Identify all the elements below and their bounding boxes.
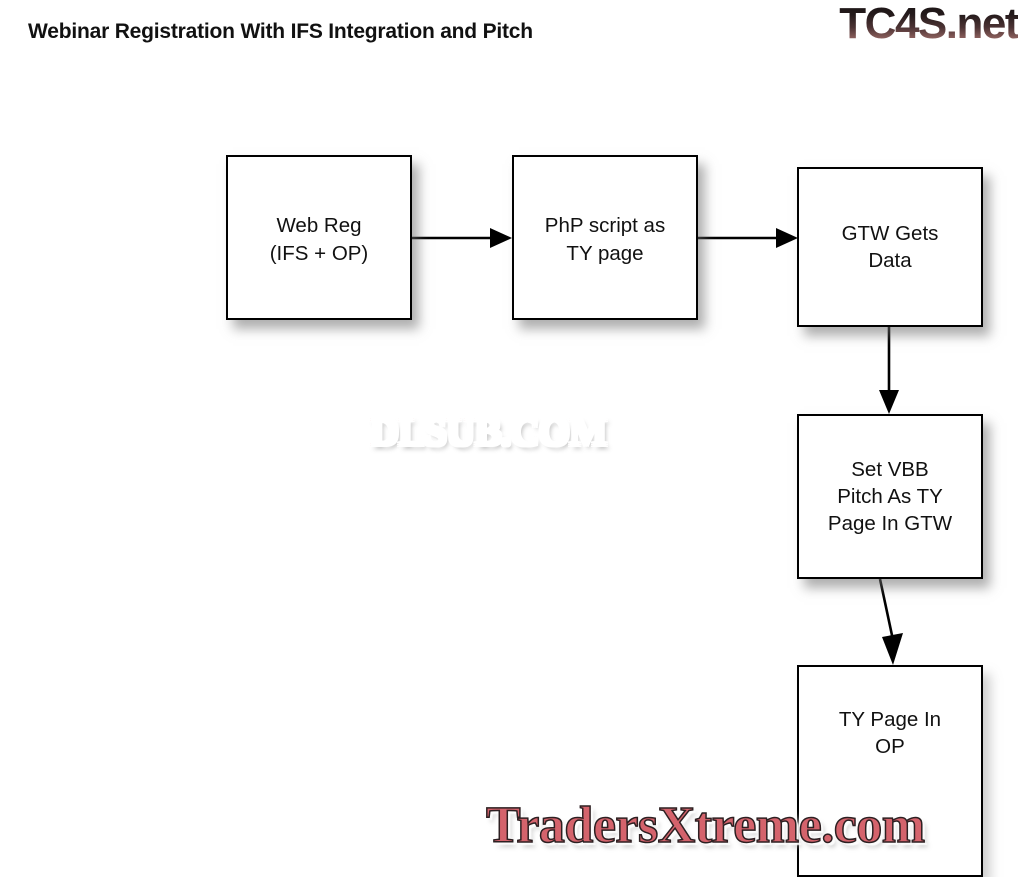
flow-box-gtw-gets-data-label: GTW Gets Data: [836, 220, 945, 274]
tc4s-brand-logo: TC4S.net: [839, 2, 1018, 46]
flow-box-set-vbb-pitch-label: Set VBB Pitch As TY Page In GTW: [822, 456, 958, 537]
page-title: Webinar Registration With IFS Integratio…: [28, 20, 533, 44]
dlsub-watermark: DLSUB.COM: [370, 412, 607, 452]
flow-box-php-script[interactable]: PhP script as TY page: [512, 155, 698, 320]
flow-box-set-vbb-pitch[interactable]: Set VBB Pitch As TY Page In GTW: [797, 414, 983, 579]
tradersxtreme-watermark: TradersXtreme.com: [486, 800, 925, 852]
diagram-canvas: Webinar Registration With IFS Integratio…: [0, 0, 1024, 877]
connector-set-vbb-to-ty-page: [880, 579, 903, 665]
flow-box-php-script-label: PhP script as TY page: [539, 212, 671, 266]
flow-box-ty-page-in-op-label: TY Page In OP: [833, 706, 947, 760]
dlsub-watermark-text: DLSUB.COM: [370, 409, 607, 454]
flow-box-web-reg[interactable]: Web Reg (IFS + OP): [226, 155, 412, 320]
connector-web-reg-to-php-script: [412, 228, 512, 248]
connector-php-script-to-gtw: [698, 228, 798, 248]
flow-box-web-reg-label: Web Reg (IFS + OP): [264, 212, 375, 266]
connector-gtw-to-set-vbb: [879, 327, 899, 414]
flow-box-gtw-gets-data[interactable]: GTW Gets Data: [797, 167, 983, 327]
